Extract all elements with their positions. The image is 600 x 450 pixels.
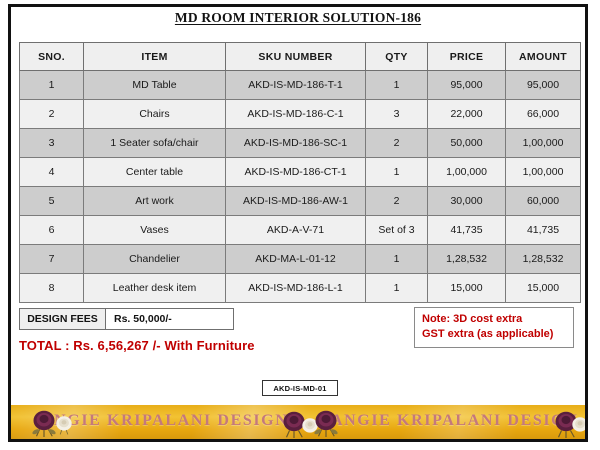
quotation-sheet: MD ROOM INTERIOR SOLUTION-186 SNO. ITEM … [0, 0, 600, 450]
cell-qty: 2 [366, 187, 428, 216]
cell-sno: 3 [20, 129, 84, 158]
table-row: 7 Chandelier AKD-MA-L-01-12 1 1,28,532 1… [20, 245, 581, 274]
cell-price: 95,000 [428, 71, 506, 100]
design-fees-box: DESIGN FEES Rs. 50,000/- [19, 308, 234, 330]
cell-qty: 1 [366, 245, 428, 274]
cell-price: 1,00,000 [428, 158, 506, 187]
cell-qty: Set of 3 [366, 216, 428, 245]
cell-item: 1 Seater sofa/chair [84, 129, 226, 158]
cell-sku: AKD-IS-MD-186-SC-1 [226, 129, 366, 158]
table-row: 6 Vases AKD-A-V-71 Set of 3 41,735 41,73… [20, 216, 581, 245]
purple-rose-icon [311, 407, 341, 437]
cell-amount: 1,28,532 [506, 245, 581, 274]
footer-brand-banner: ANGIE KRIPALANI DESIGN ANGIE KRIPALANI D… [11, 405, 585, 439]
table-header-row: SNO. ITEM SKU NUMBER QTY PRICE AMOUNT [20, 43, 581, 71]
note-line-1: Note: 3D cost extra [422, 312, 566, 327]
cell-price: 30,000 [428, 187, 506, 216]
cell-item: Center table [84, 158, 226, 187]
cell-sku: AKD-IS-MD-186-L-1 [226, 274, 366, 303]
cell-qty: 1 [366, 71, 428, 100]
white-rose-icon [53, 413, 75, 435]
cell-sno: 8 [20, 274, 84, 303]
cell-sku: AKD-IS-MD-186-CT-1 [226, 158, 366, 187]
column-header-item: ITEM [84, 43, 226, 71]
cell-sno: 5 [20, 187, 84, 216]
white-rose-icon [569, 414, 585, 436]
cell-qty: 1 [366, 274, 428, 303]
sku-tag: AKD-IS-MD-01 [262, 380, 338, 396]
cell-item: Art work [84, 187, 226, 216]
design-fees-value: Rs. 50,000/- [106, 309, 233, 329]
cell-sku: AKD-IS-MD-186-T-1 [226, 71, 366, 100]
column-header-amount: AMOUNT [506, 43, 581, 71]
cell-amount: 1,00,000 [506, 129, 581, 158]
cell-sku: AKD-A-V-71 [226, 216, 366, 245]
column-header-qty: QTY [366, 43, 428, 71]
cell-price: 50,000 [428, 129, 506, 158]
table-row: 5 Art work AKD-IS-MD-186-AW-1 2 30,000 6… [20, 187, 581, 216]
brand-name-text: ANGIE KRIPALANI DESIGN [331, 412, 578, 430]
cell-sno: 6 [20, 216, 84, 245]
cell-qty: 1 [366, 158, 428, 187]
cell-item: Chandelier [84, 245, 226, 274]
brand-name-text: ANGIE KRIPALANI DESIGN [41, 412, 288, 430]
total-amount-line: TOTAL : Rs. 6,56,267 /- With Furniture [19, 338, 255, 353]
cell-amount: 95,000 [506, 71, 581, 100]
cell-amount: 66,000 [506, 100, 581, 129]
column-header-price: PRICE [428, 43, 506, 71]
cell-price: 15,000 [428, 274, 506, 303]
table-row: 4 Center table AKD-IS-MD-186-CT-1 1 1,00… [20, 158, 581, 187]
cell-sno: 2 [20, 100, 84, 129]
cell-item: Chairs [84, 100, 226, 129]
cell-sno: 1 [20, 71, 84, 100]
cell-sku: AKD-IS-MD-186-C-1 [226, 100, 366, 129]
page-title: MD ROOM INTERIOR SOLUTION-186 [8, 10, 588, 26]
cell-amount: 1,00,000 [506, 158, 581, 187]
table-row: 1 MD Table AKD-IS-MD-186-T-1 1 95,000 95… [20, 71, 581, 100]
design-fees-label: DESIGN FEES [20, 309, 106, 329]
cell-sku: AKD-MA-L-01-12 [226, 245, 366, 274]
note-box: Note: 3D cost extra GST extra (as applic… [414, 307, 574, 348]
quotation-table: SNO. ITEM SKU NUMBER QTY PRICE AMOUNT 1 … [19, 42, 581, 303]
cell-amount: 41,735 [506, 216, 581, 245]
cell-item: Leather desk item [84, 274, 226, 303]
cell-price: 22,000 [428, 100, 506, 129]
cell-sno: 7 [20, 245, 84, 274]
cell-qty: 2 [366, 129, 428, 158]
note-line-2: GST extra (as applicable) [422, 327, 566, 342]
column-header-sno: SNO. [20, 43, 84, 71]
cell-amount: 15,000 [506, 274, 581, 303]
column-header-sku: SKU NUMBER [226, 43, 366, 71]
cell-price: 41,735 [428, 216, 506, 245]
table-row: 8 Leather desk item AKD-IS-MD-186-L-1 1 … [20, 274, 581, 303]
cell-qty: 3 [366, 100, 428, 129]
table-row: 2 Chairs AKD-IS-MD-186-C-1 3 22,000 66,0… [20, 100, 581, 129]
cell-sku: AKD-IS-MD-186-AW-1 [226, 187, 366, 216]
cell-sno: 4 [20, 158, 84, 187]
cell-price: 1,28,532 [428, 245, 506, 274]
table-row: 3 1 Seater sofa/chair AKD-IS-MD-186-SC-1… [20, 129, 581, 158]
cell-item: MD Table [84, 71, 226, 100]
cell-item: Vases [84, 216, 226, 245]
cell-amount: 60,000 [506, 187, 581, 216]
